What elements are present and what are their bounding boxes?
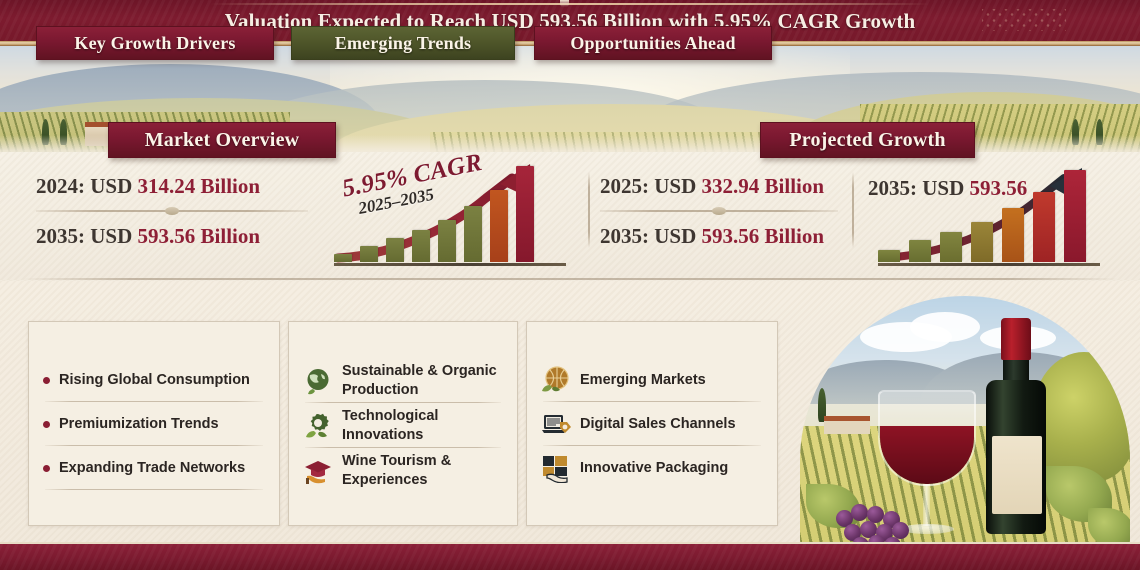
stat-row: 2035: USD 593.56 Billion bbox=[36, 226, 308, 247]
bullet-dot-icon bbox=[43, 421, 50, 428]
wine-bottle-glass-vineyard-image bbox=[786, 292, 1140, 543]
bar bbox=[516, 166, 534, 262]
stat-divider bbox=[36, 206, 308, 216]
list-item[interactable]: Emerging Markets bbox=[541, 358, 763, 402]
key-growth-drivers-badge: Key Growth Drivers bbox=[36, 26, 274, 60]
emerging-trends-card: Sustainable & Organic Production Technol… bbox=[288, 321, 518, 526]
market-overview-stats: 2024: USD 314.24 Billion 2035: USD 593.5… bbox=[36, 176, 308, 247]
drivers-list: Rising Global Consumption Premiumization… bbox=[29, 358, 279, 490]
stat-label: 2025: USD bbox=[600, 174, 696, 198]
list-item-label: Innovative Packaging bbox=[580, 459, 728, 478]
graduation-cap-hand-icon bbox=[303, 456, 333, 486]
projected-growth-stats: 2025: USD 332.94 Billion 2035: USD 593.5… bbox=[600, 176, 838, 247]
globe-leaf-gold-icon bbox=[541, 365, 571, 395]
grape-cluster bbox=[836, 502, 932, 543]
bullet-dot-icon bbox=[43, 465, 50, 472]
trends-list: Sustainable & Organic Production Technol… bbox=[289, 358, 517, 493]
chart-baseline bbox=[334, 263, 566, 266]
opportunities-ahead-card: Emerging Markets Digital Sales Cha bbox=[526, 321, 778, 526]
stats-vertical-divider-left bbox=[588, 172, 590, 248]
stat-value: 593.56 Billion bbox=[702, 224, 825, 248]
photo-arch-frame bbox=[800, 296, 1130, 543]
stat-value: 332.94 Billion bbox=[702, 174, 825, 198]
stat-label: 2024: USD bbox=[36, 174, 132, 198]
globe-leaf-icon bbox=[303, 366, 333, 396]
projected-growth-bar-chart bbox=[878, 166, 1100, 266]
list-item[interactable]: Digital Sales Channels bbox=[541, 402, 763, 446]
laptop-tag-icon bbox=[541, 409, 571, 439]
red-wine bbox=[880, 426, 974, 484]
bullet-dot-icon bbox=[43, 377, 50, 384]
stats-vertical-divider-right bbox=[852, 172, 854, 248]
bar bbox=[360, 246, 378, 262]
list-item[interactable]: Wine Tourism & Experiences bbox=[303, 448, 503, 493]
opportunities-list: Emerging Markets Digital Sales Cha bbox=[527, 358, 777, 490]
stat-label: 2035: USD bbox=[36, 224, 132, 248]
key-growth-drivers-card: Rising Global Consumption Premiumization… bbox=[28, 321, 280, 526]
stat-label: 2035: USD bbox=[600, 224, 696, 248]
bar bbox=[464, 206, 482, 262]
bar bbox=[940, 232, 962, 262]
stat-divider bbox=[600, 206, 838, 216]
bar bbox=[1002, 208, 1024, 262]
list-item-label: Wine Tourism & Experiences bbox=[342, 452, 503, 489]
stat-row: 2024: USD 314.24 Billion bbox=[36, 176, 308, 197]
bar bbox=[878, 250, 900, 262]
stat-value: 314.24 Billion bbox=[138, 174, 261, 198]
cloud bbox=[910, 312, 980, 342]
list-item[interactable]: Technological Innovations bbox=[303, 403, 503, 448]
bar bbox=[334, 254, 352, 262]
list-item[interactable]: Rising Global Consumption bbox=[43, 358, 265, 402]
glass-bowl bbox=[878, 390, 976, 486]
market-overview-badge: Market Overview bbox=[108, 122, 336, 158]
wine-bottle bbox=[986, 318, 1046, 534]
farmhouse-icon bbox=[824, 416, 870, 434]
tree bbox=[1032, 352, 1130, 482]
bottle-label bbox=[992, 436, 1042, 514]
stat-row: 2025: USD 332.94 Billion bbox=[600, 176, 838, 197]
list-item[interactable]: Innovative Packaging bbox=[541, 446, 763, 490]
gear-leaf-icon bbox=[303, 411, 333, 441]
header-clipped-descender bbox=[560, 0, 569, 7]
bar bbox=[1033, 192, 1055, 262]
bar bbox=[412, 230, 430, 262]
list-item[interactable]: Sustainable & Organic Production bbox=[303, 358, 503, 403]
decorative-dots-icon bbox=[982, 9, 1066, 31]
list-item[interactable]: Expanding Trade Networks bbox=[43, 446, 265, 490]
stat-row: 2035: USD 593.56 Billion bbox=[600, 226, 838, 247]
infographic-root: Valuation Expected to Reach USD 593.56 B… bbox=[0, 0, 1140, 570]
list-item-label: Rising Global Consumption bbox=[59, 371, 250, 390]
list-item[interactable]: Premiumization Trends bbox=[43, 402, 265, 446]
emerging-trends-badge: Emerging Trends bbox=[291, 26, 515, 60]
list-item-label: Premiumization Trends bbox=[59, 415, 219, 434]
footer-bar bbox=[0, 542, 1140, 570]
list-item-label: Digital Sales Channels bbox=[580, 415, 736, 434]
grape-leaf bbox=[1088, 508, 1130, 543]
bottle-capsule bbox=[1001, 318, 1031, 360]
bar bbox=[490, 190, 508, 262]
opportunities-ahead-badge: Opportunities Ahead bbox=[534, 26, 772, 60]
bar bbox=[971, 222, 993, 262]
projected-growth-badge: Projected Growth bbox=[760, 122, 975, 158]
stat-value: 593.56 Billion bbox=[138, 224, 261, 248]
bar-group bbox=[878, 170, 1086, 262]
list-item-label: Emerging Markets bbox=[580, 371, 706, 390]
chart-baseline bbox=[878, 263, 1100, 266]
bar bbox=[386, 238, 404, 262]
package-hand-icon bbox=[541, 453, 571, 483]
bar bbox=[1064, 170, 1086, 262]
bar bbox=[909, 240, 931, 262]
list-item-label: Expanding Trade Networks bbox=[59, 459, 245, 478]
list-item-label: Sustainable & Organic Production bbox=[342, 362, 503, 399]
header-top-rule bbox=[210, 3, 930, 5]
bar bbox=[438, 220, 456, 262]
list-item-label: Technological Innovations bbox=[342, 407, 503, 444]
